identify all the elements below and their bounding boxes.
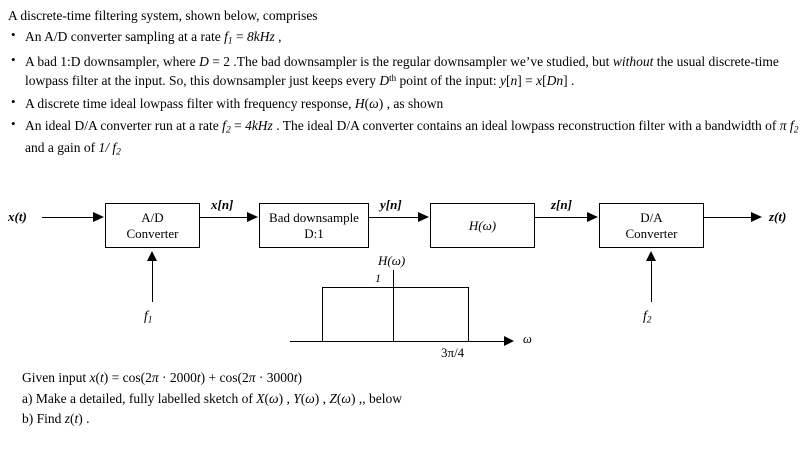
bullet-text-0: An A/D converter sampling at a rate f1 =… (25, 29, 281, 44)
block-ad-converter-line1: A/D (141, 210, 163, 225)
block-lowpass-filter: H(ω) (430, 203, 535, 248)
arrow-clock-f2 (646, 251, 656, 261)
plot-passband-right-edge (468, 287, 469, 342)
arrow-into-bad-downsampler (247, 212, 258, 222)
plot-x-axis (290, 341, 505, 342)
clock-label-f1: f1 (144, 308, 153, 326)
signal-label-x-n: x[n] (211, 197, 233, 213)
bullet-text-2: A discrete time ideal lowpass filter wit… (25, 96, 443, 111)
question-given: Given input x(t) = cos(2π · 2000t) + cos… (22, 368, 792, 389)
arrow-into-ad-converter (93, 212, 104, 222)
problem-statement: A discrete-time filtering system, shown … (8, 6, 803, 163)
clock-label-f2: f2 (643, 308, 652, 326)
block-bad-downsampler-line1: Bad downsample (269, 210, 359, 225)
wire-y-n (369, 217, 421, 218)
arrow-into-lowpass-filter (418, 212, 429, 222)
question-part-a: a) Make a detailed, fully labelled sketc… (22, 389, 792, 410)
wire-input (42, 217, 96, 218)
requirements-list: An A/D converter sampling at a rate f1 =… (8, 27, 803, 160)
input-signal-label: x(t) (8, 209, 27, 225)
plot-x-axis-label: ω (523, 332, 532, 347)
plot-amplitude-tick: 1 (375, 271, 381, 286)
plot-title: H(ω) (378, 253, 405, 269)
plot-passband-top (322, 287, 469, 288)
arrow-into-da-converter (587, 212, 598, 222)
block-bad-downsampler-line2: D:1 (304, 226, 324, 241)
bullet-ad-converter: An A/D converter sampling at a rate f1 =… (8, 27, 803, 49)
block-ad-converter-line2: Converter (127, 226, 179, 241)
arrow-clock-f1 (147, 251, 157, 261)
wire-clock-f1 (152, 260, 153, 302)
plot-x-axis-arrowhead (504, 336, 514, 346)
signal-label-z-n: z[n] (551, 197, 572, 213)
bullet-text-1: A bad 1:D downsampler, where D = 2 .The … (25, 54, 779, 88)
signal-label-y-n: y[n] (380, 197, 402, 213)
plot-cutoff-tick: 3π/4 (441, 345, 464, 361)
questions-section: Given input x(t) = cos(2π · 2000t) + cos… (22, 368, 792, 430)
arrow-output (751, 212, 762, 222)
plot-passband-left-edge (322, 287, 323, 342)
frequency-response-plot: H(ω) 1 3π/4 ω (280, 255, 580, 365)
block-bad-downsampler: Bad downsample D:1 (259, 203, 369, 248)
bullet-bad-downsampler: A bad 1:D downsampler, where D = 2 .The … (8, 52, 803, 90)
intro-line: A discrete-time filtering system, shown … (8, 6, 803, 25)
block-lowpass-filter-line1: H(ω) (469, 218, 496, 233)
block-da-converter-line2: Converter (626, 226, 678, 241)
wire-clock-f2 (651, 260, 652, 302)
wire-output (704, 217, 754, 218)
block-da-converter-line1: D/A (640, 210, 662, 225)
bullet-text-3: An ideal D/A converter run at a rate f2 … (25, 118, 798, 155)
block-ad-converter: A/D Converter (105, 203, 200, 248)
wire-x-n (200, 217, 250, 218)
wire-z-n (535, 217, 590, 218)
question-part-b: b) Find z(t) . (22, 409, 792, 430)
bullet-ideal-lowpass-filter: A discrete time ideal lowpass filter wit… (8, 94, 803, 113)
bullet-da-converter: An ideal D/A converter run at a rate f2 … (8, 116, 803, 160)
output-signal-label: z(t) (769, 209, 786, 225)
block-da-converter: D/A Converter (599, 203, 704, 248)
plot-y-axis (393, 270, 394, 342)
